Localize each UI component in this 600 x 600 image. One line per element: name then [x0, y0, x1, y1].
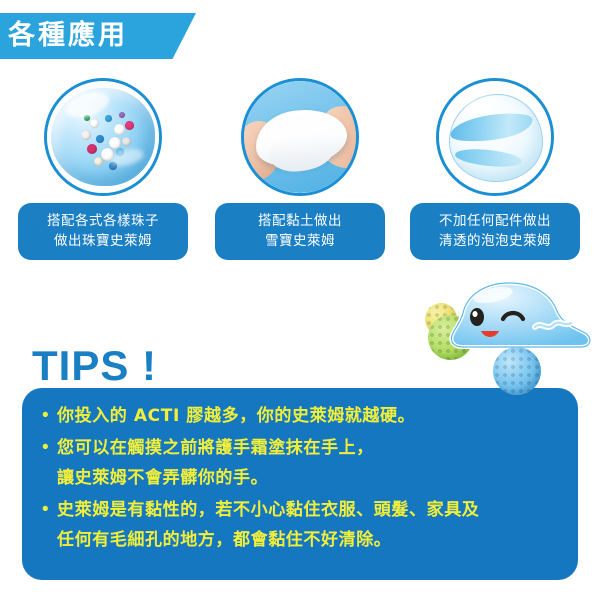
tip-line: 你投入的 ACTI 膠越多，你的史萊姆就越硬。: [57, 401, 415, 431]
caption-line: 搭配各式各樣珠子: [24, 211, 182, 231]
card-caption: 搭配各式各樣珠子 做出珠寶史萊姆: [18, 203, 188, 260]
tip-line: 史萊姆是有黏性的，若不小心黏住衣服、頭髮、家具及: [57, 495, 479, 525]
tips-panel: • 你投入的 ACTI 膠越多，你的史萊姆就越硬。 • 您可以在觸摸之前將護手霜…: [22, 388, 578, 580]
caption-line: 雪寶史萊姆: [221, 231, 379, 251]
caption-line: 不加任何配件做出: [416, 211, 574, 231]
card-caption: 不加任何配件做出 清透的泡泡史萊姆: [410, 203, 580, 260]
slime-with-beads-photo: [44, 78, 162, 196]
mascot-illustration: [425, 275, 600, 390]
tip-line: 讓史萊姆不會弄髒你的手。: [57, 463, 374, 493]
tips-heading: TIPS !: [32, 342, 157, 390]
bullet-icon: •: [42, 495, 57, 525]
feature-card-snow-slime: 搭配黏土做出 雪寶史萊姆: [205, 78, 395, 258]
feature-card-bubble-slime: 不加任何配件做出 清透的泡泡史萊姆: [400, 78, 590, 258]
tip-item: • 史萊姆是有黏性的，若不小心黏住衣服、頭髮、家具及 任何有毛細孔的地方，都會黏…: [42, 495, 558, 555]
bullet-icon: •: [42, 433, 57, 463]
clear-bubble-slime-photo: [436, 78, 554, 196]
caption-line: 清透的泡泡史萊姆: [416, 231, 574, 251]
tip-text: 史萊姆是有黏性的，若不小心黏住衣服、頭髮、家具及 任何有毛細孔的地方，都會黏住不…: [57, 495, 479, 555]
tip-item: • 您可以在觸摸之前將護手霜塗抹在手上， 讓史萊姆不會弄髒你的手。: [42, 433, 558, 493]
caption-line: 做出珠寶史萊姆: [24, 231, 182, 251]
feature-cards: 搭配各式各樣珠子 做出珠寶史萊姆 搭配黏土做出 雪寶史萊姆: [0, 78, 600, 258]
hands-stretching-snow-slime-photo: [241, 78, 359, 196]
tip-line: 任何有毛細孔的地方，都會黏住不好清除。: [57, 525, 479, 555]
tip-item: • 你投入的 ACTI 膠越多，你的史萊姆就越硬。: [42, 401, 558, 431]
textured-ball-blue: [493, 347, 541, 395]
feature-card-beads: 搭配各式各樣珠子 做出珠寶史萊姆: [8, 78, 198, 258]
page-root: 各種應用: [0, 0, 600, 600]
tip-text: 你投入的 ACTI 膠越多，你的史萊姆就越硬。: [57, 401, 415, 431]
page-title: 各種應用: [8, 15, 178, 57]
tip-line: 您可以在觸摸之前將護手霜塗抹在手上，: [57, 433, 374, 463]
bullet-icon: •: [42, 401, 57, 431]
tip-text: 您可以在觸摸之前將護手霜塗抹在手上， 讓史萊姆不會弄髒你的手。: [57, 433, 374, 493]
caption-line: 搭配黏土做出: [221, 211, 379, 231]
card-caption: 搭配黏土做出 雪寶史萊姆: [215, 203, 385, 260]
